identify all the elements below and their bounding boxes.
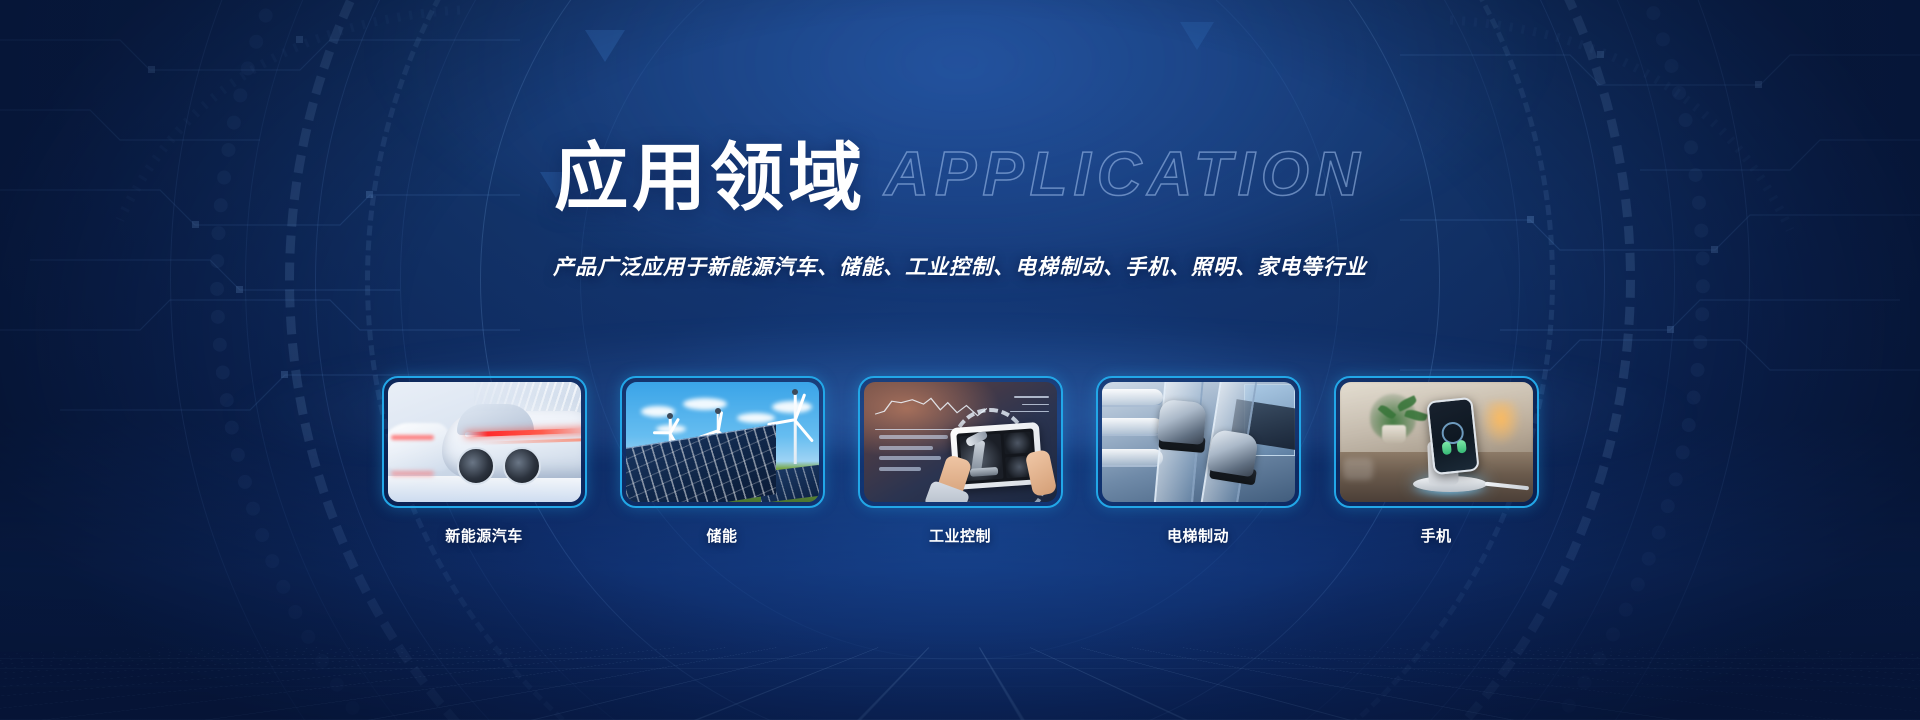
- application-card-new-energy-vehicle[interactable]: 新能源汽车: [382, 376, 587, 546]
- card-frame[interactable]: [1334, 376, 1539, 508]
- plant-pot: [1382, 425, 1406, 443]
- card-label: 工业控制: [858, 525, 1063, 546]
- tablet-screen: [957, 428, 1037, 484]
- hud-bar: [879, 446, 933, 450]
- car-wheel: [457, 447, 495, 485]
- hud-line: [1010, 411, 1049, 412]
- card-frame[interactable]: [858, 376, 1063, 508]
- solar-panel-array: [626, 424, 777, 502]
- background-car: [388, 423, 450, 471]
- new-energy-vehicle-photo: [388, 382, 581, 502]
- elevator-car: [1207, 429, 1259, 478]
- page-title: 应用领域: [554, 118, 866, 225]
- floor-grid-plane: [0, 647, 1920, 720]
- application-card-industrial-control[interactable]: 工业控制: [858, 376, 1063, 546]
- battery-indicator: [1457, 440, 1467, 454]
- balcony-floor: [1102, 449, 1164, 467]
- cloud: [683, 398, 727, 410]
- robot-arm-base: [970, 467, 998, 477]
- smartphone: [1426, 397, 1479, 475]
- balcony-floor: [1102, 418, 1164, 436]
- hud-line: [1022, 404, 1049, 405]
- application-card-energy-storage[interactable]: 储能: [620, 376, 825, 546]
- turbine-blade: [653, 431, 670, 434]
- energy-storage-photo: [626, 382, 819, 502]
- turbine-hub: [667, 413, 673, 419]
- background-car-taillight: [391, 435, 433, 440]
- banner-header: 应用领域APPLICATION 产品广泛应用于新能源汽车、储能、工业控制、电梯制…: [0, 118, 1920, 281]
- background-object: [1343, 458, 1373, 480]
- card-label: 手机: [1334, 525, 1539, 546]
- battery-indicator: [1442, 442, 1452, 456]
- mobile-phone-photo: [1340, 382, 1533, 502]
- elevator-braking-photo: [1102, 382, 1295, 502]
- turbine-mast: [794, 392, 797, 464]
- turbine-blade: [794, 419, 814, 442]
- card-label: 新能源汽车: [382, 525, 587, 546]
- card-label: 电梯制动: [1096, 525, 1301, 546]
- hud-bar: [879, 456, 941, 460]
- card-frame[interactable]: [620, 376, 825, 508]
- elevator-car: [1158, 399, 1207, 445]
- background-car-taillight-reflection: [391, 471, 433, 476]
- page-title-english: APPLICATION: [884, 139, 1366, 210]
- hud-line: [1014, 396, 1049, 397]
- hud-bar: [879, 467, 921, 471]
- application-card-mobile-phone[interactable]: 手机: [1334, 376, 1539, 546]
- screen-thumbnail: [1003, 431, 1031, 454]
- application-card-elevator-braking[interactable]: 电梯制动: [1096, 376, 1301, 546]
- card-frame[interactable]: [1096, 376, 1301, 508]
- hud-line: [875, 429, 956, 430]
- warm-lamp-glow: [1481, 401, 1521, 445]
- page-subtitle: 产品广泛应用于新能源汽车、储能、工业控制、电梯制动、手机、照明、家电等行业: [0, 251, 1920, 281]
- card-frame[interactable]: [382, 376, 587, 508]
- application-card-list: 新能源汽车: [0, 376, 1920, 546]
- title-wrapper: 应用领域APPLICATION: [554, 118, 1366, 225]
- turbine-hub: [792, 389, 798, 395]
- hud-bar: [879, 435, 948, 439]
- industrial-control-photo: [864, 382, 1057, 502]
- card-label: 储能: [620, 525, 825, 546]
- application-banner: 应用领域APPLICATION 产品广泛应用于新能源汽车、储能、工业控制、电梯制…: [0, 0, 1920, 720]
- turbine-hub: [715, 408, 721, 414]
- balcony-floor: [1102, 389, 1164, 407]
